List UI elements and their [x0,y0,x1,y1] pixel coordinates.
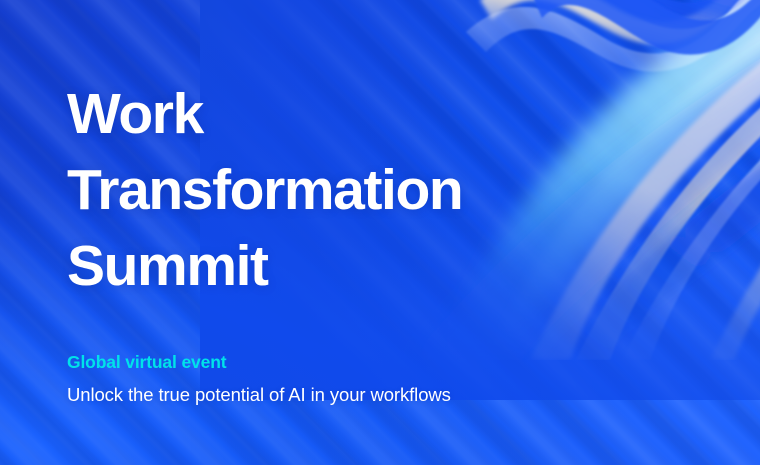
headline-line-1: Work [67,76,462,152]
event-banner: Work Transformation Summit Global virtua… [0,0,760,465]
banner-content: Work Transformation Summit Global virtua… [67,0,707,465]
headline-line-2: Transformation [67,152,462,228]
event-type-label: Global virtual event [67,351,226,373]
event-tagline: Unlock the true potential of AI in your … [67,382,451,408]
headline-line-3: Summit [67,228,462,304]
page-title: Work Transformation Summit [67,76,462,304]
